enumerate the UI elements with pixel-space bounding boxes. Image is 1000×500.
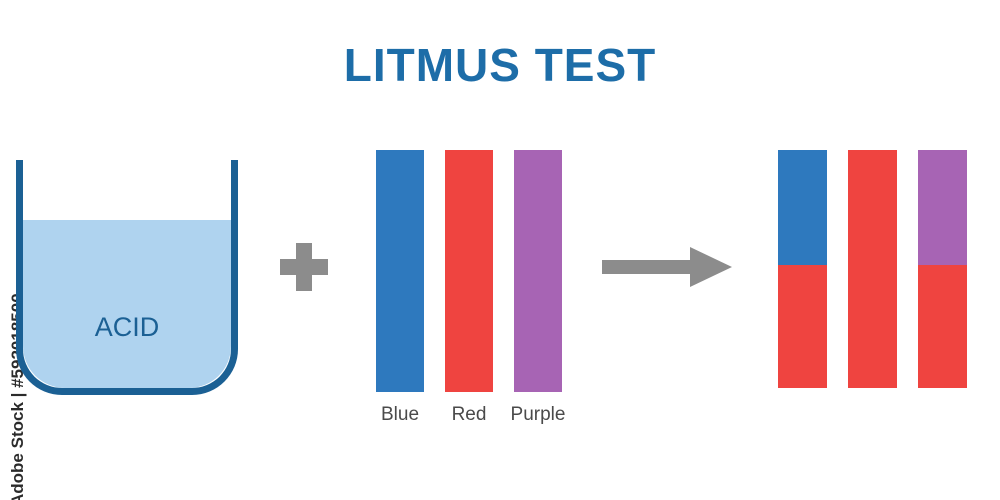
input-strip-blue [376,150,424,392]
output-strip-segment-acid-reacted [848,150,897,388]
acid-beaker: ACID [16,160,238,395]
input-strip-purple [514,150,562,392]
beaker-label: ACID [23,312,231,343]
beaker-outline [16,160,238,395]
output-strip-segment-unreacted [778,150,827,265]
litmus-test-illustration: LITMUS TEST Adobe Stock | #592018500 ACI… [0,0,1000,500]
plus-icon-vertical-bar [296,243,312,291]
output-strip-segment-acid-reacted [918,265,967,388]
output-strip-red [848,150,897,388]
page-title: LITMUS TEST [0,38,1000,92]
input-strip-label-purple: Purple [478,404,598,426]
plus-icon [280,243,328,291]
input-strip-red [445,150,493,392]
output-strip-blue [778,150,827,388]
input-litmus-strips: BlueRedPurple [376,150,586,420]
output-litmus-strips [778,150,980,390]
output-strip-segment-acid-reacted [778,265,827,388]
output-strip-segment-unreacted [918,150,967,265]
output-strip-purple [918,150,967,388]
arrow-right-icon [602,247,732,287]
